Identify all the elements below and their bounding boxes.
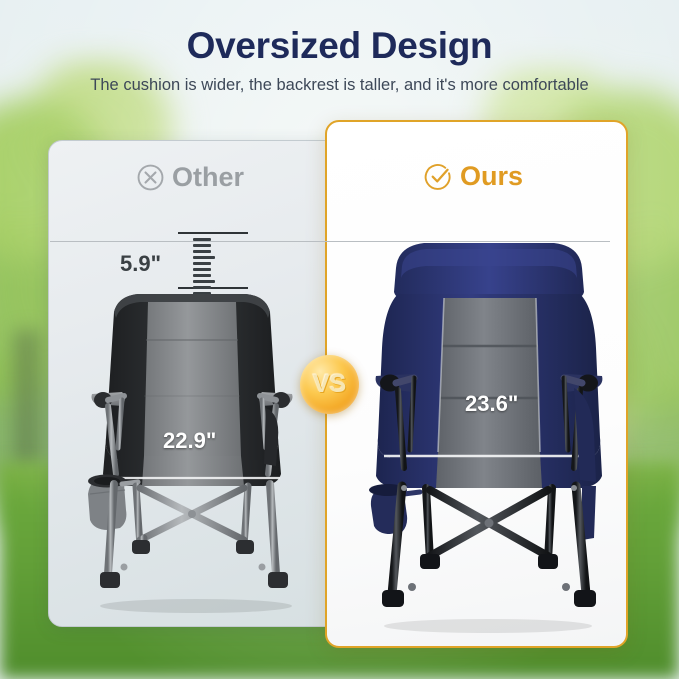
measurement-label-ours: 23.6" (465, 393, 518, 415)
label-badge-ours-text: Ours (460, 163, 523, 190)
chair-image-other (78, 288, 306, 618)
label-badge-other: Other (136, 163, 244, 192)
header: Oversized Design The cushion is wider, t… (0, 0, 679, 94)
measurement-label-extra-height: 5.9" (120, 253, 161, 275)
measurement-label-other: 22.9" (163, 430, 216, 452)
page-subtitle: The cushion is wider, the backrest is ta… (0, 77, 679, 94)
vs-badge: VS (300, 355, 359, 414)
page-title: Oversized Design (0, 27, 679, 64)
vs-badge-text: VS (313, 372, 346, 397)
circle-x-icon (136, 163, 165, 192)
circle-check-icon (424, 162, 453, 191)
label-badge-other-text: Other (172, 164, 244, 191)
chair-image-ours (368, 238, 610, 638)
label-badge-ours: Ours (424, 162, 523, 191)
